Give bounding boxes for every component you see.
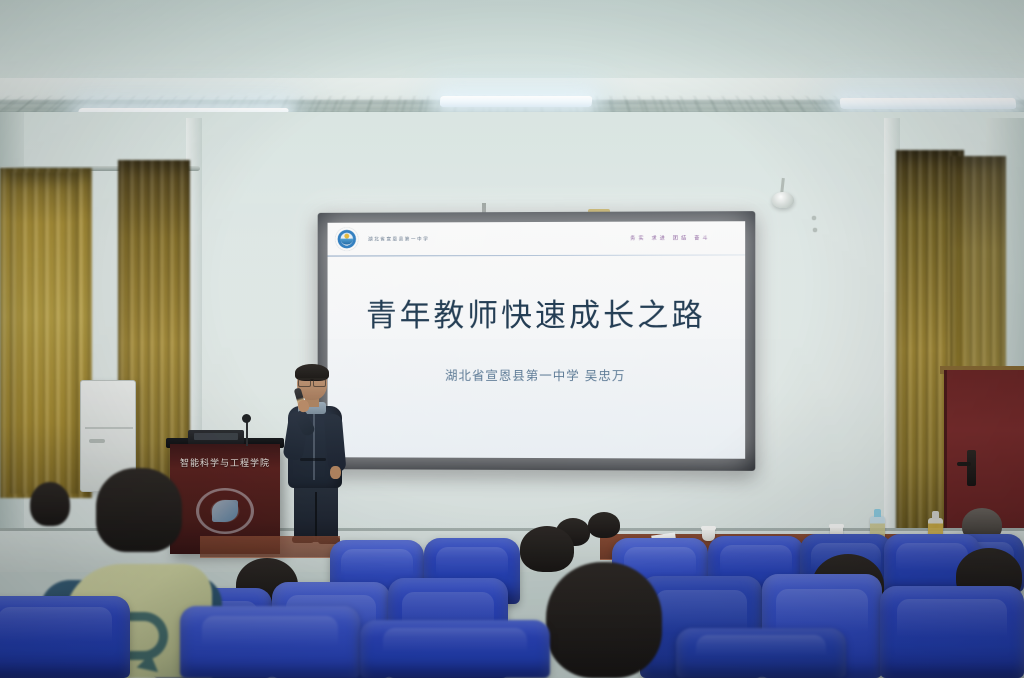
speaker-arm-right [324,413,347,472]
auditorium-seat [880,586,1024,678]
speaker-jacket-zipper [313,412,315,480]
ceiling-upper-wall [0,0,1024,90]
fluorescent-tube-center [440,96,593,107]
podium-sign-text: 智能科学与工程学院 [176,456,274,469]
auditorium-seat [676,628,846,678]
slide-subtitle: 湖北省宣恩县第一中学 吴忠万 [445,365,625,384]
school-emblem-icon [335,228,358,251]
podium-microphone-stand [246,420,248,446]
auditorium-seat [180,606,360,678]
speaker-leg-seam [315,492,317,540]
attendee-head [30,482,70,526]
auditorium-seat [0,596,130,678]
speaker-hand-right [330,466,341,479]
door-handle-icon[interactable] [967,450,976,486]
auditorium-seat [360,620,550,678]
college-emblem-icon [196,488,254,534]
attendee-head [96,468,182,552]
speaker-jacket-pocket [300,458,326,461]
attendee-head [546,562,662,678]
wall-fixture-screw [812,216,816,220]
slide-header-motto: 务实 求进 团结 奋斗 [630,234,711,241]
wall-speaker [772,192,794,208]
wall-fixture-screw [813,228,817,232]
presentation-slide: 湖北省宣恩县第一中学 务实 求进 团结 奋斗 青年教师快速成长之路 湖北省宣恩县… [328,221,746,459]
presenter-laptop [188,430,244,444]
wall-mounted-display: 湖北省宣恩县第一中学 务实 求进 团结 奋斗 青年教师快速成长之路 湖北省宣恩县… [318,211,756,471]
slide-header: 湖北省宣恩县第一中学 务实 求进 团结 奋斗 [328,221,746,256]
slide-body: 青年教师快速成长之路 湖北省宣恩县第一中学 吴忠万 [328,255,746,458]
side-table [200,536,340,558]
speaker [272,366,358,542]
curtain-left-inner [10,172,78,494]
lecture-hall-photo: 湖北省宣恩县第一中学 务实 求进 团结 奋斗 青年教师快速成长之路 湖北省宣恩县… [0,0,1024,678]
slide-header-school-name: 湖北省宣恩县第一中学 [368,236,429,242]
podium-microphone-icon [242,414,251,423]
fluorescent-tube-right [839,98,1016,109]
slide-title: 青年教师快速成长之路 [366,290,706,335]
attendee-head [588,512,620,538]
display-surface: 湖北省宣恩县第一中学 务实 求进 团结 奋斗 青年教师快速成长之路 湖北省宣恩县… [328,221,746,459]
eyeglasses-icon [298,378,326,384]
attendee-head [520,526,574,572]
